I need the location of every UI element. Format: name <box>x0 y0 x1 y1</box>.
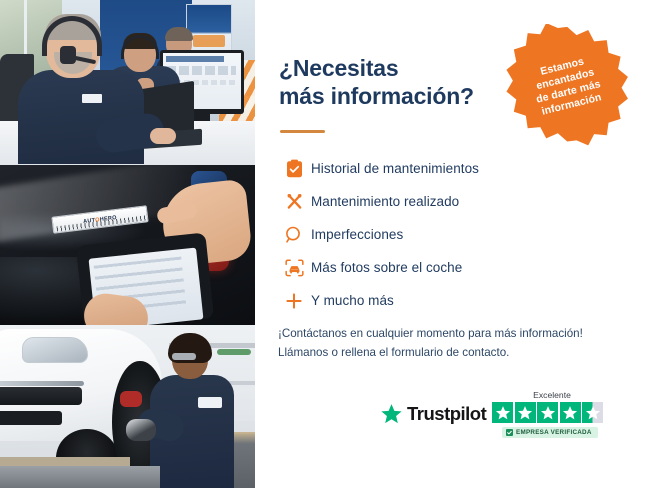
verified-company-badge: EMPRESA VERIFICADA <box>502 427 598 438</box>
photo-column: AUTOHERO <box>0 0 255 488</box>
trustpilot-star-icon <box>380 403 403 425</box>
call-center-agents-photo <box>0 0 255 165</box>
car-chrome-trim <box>0 381 84 386</box>
car-lift-decor <box>0 466 160 488</box>
car-inspection-ruler-photo: AUTOHERO <box>0 165 255 325</box>
verified-check-icon <box>506 429 513 436</box>
agent-back-hair <box>165 27 193 41</box>
feature-label: Historial de mantenimientos <box>311 161 479 176</box>
contact-paragraph-line2: Llámanos o rellena el formulario de cont… <box>278 346 509 359</box>
rating-star-5-half <box>582 402 603 423</box>
green-hose-decor <box>217 349 251 355</box>
trustpilot-logo[interactable]: Trustpilot <box>380 403 486 425</box>
lift-pad-decor <box>0 457 130 466</box>
page-title: ¿Necesitasmás información? <box>279 54 509 110</box>
rating-star-2 <box>515 402 536 423</box>
car-headlight <box>22 337 88 363</box>
headset-icon <box>492 36 515 56</box>
feature-item-maintenance-history: Historial de mantenimientos <box>277 152 617 185</box>
feature-label: Imperfecciones <box>311 227 403 242</box>
agent-front-earcup <box>60 46 76 64</box>
mechanic-name-badge <box>198 397 222 408</box>
contact-paragraph-line1: ¡Contáctanos en cualquier momento para m… <box>278 327 583 340</box>
mechanic-wheel-photo <box>0 325 255 488</box>
magnifier-icon <box>277 226 311 244</box>
clipboard-check-icon <box>277 159 311 178</box>
agent-front-name-badge <box>82 94 102 103</box>
mechanic-tool-decor <box>120 391 142 407</box>
feature-item-more-photos: Más fotos sobre el coche <box>277 251 617 284</box>
page-title-line2: más información? <box>279 83 474 109</box>
feature-item-much-more: Y mucho más <box>277 284 617 317</box>
feature-label: Más fotos sobre el coche <box>311 260 462 275</box>
trustpilot-rating: Excelente <box>492 390 630 441</box>
trustpilot-star-rating <box>492 402 630 423</box>
rating-star-3 <box>537 402 558 423</box>
support-badge: Estamos encantados de darte más informac… <box>505 24 629 148</box>
promo-panel: AUTOHERO <box>0 0 650 488</box>
verified-company-label: EMPRESA VERIFICADA <box>516 429 592 436</box>
page-title-line1: ¿Necesitas <box>279 55 398 81</box>
feature-label: Mantenimiento realizado <box>311 194 459 209</box>
plus-icon <box>277 292 311 310</box>
crossed-tools-icon <box>277 192 311 211</box>
feature-item-maintenance-done: Mantenimiento realizado <box>277 185 617 218</box>
monitor-header-decor <box>166 56 224 62</box>
trustpilot-widget[interactable]: Trustpilot Excelente <box>380 390 630 448</box>
feature-list: Historial de mantenimientos Mantenimient… <box>277 152 617 317</box>
title-underline-rule <box>280 130 325 133</box>
rating-star-1 <box>492 402 513 423</box>
agent-front-hand <box>150 128 176 144</box>
rating-star-4 <box>560 402 581 423</box>
car-grille <box>0 387 82 405</box>
feature-label: Y mucho más <box>311 293 394 308</box>
contact-paragraph: ¡Contáctanos en cualquier momento para m… <box>278 325 638 363</box>
mechanic-safety-glasses <box>172 353 196 360</box>
trustpilot-rating-label: Excelente <box>494 390 610 400</box>
mechanic-glove <box>126 419 156 441</box>
support-badge-text: Estamos encantados de darte más informac… <box>510 48 624 124</box>
car-photo-frame-icon <box>277 259 311 277</box>
trustpilot-wordmark: Trustpilot <box>407 403 486 425</box>
car-lower-grille <box>0 411 62 425</box>
feature-item-imperfections: Imperfecciones <box>277 218 617 251</box>
content-panel: ¿Necesitasmás información? Estamos encan… <box>255 0 650 488</box>
